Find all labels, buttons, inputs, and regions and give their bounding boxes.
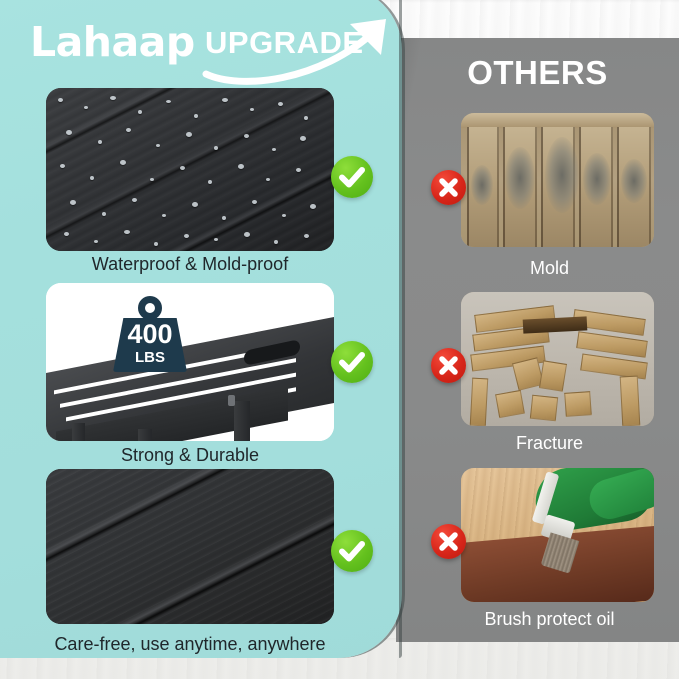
check-icon (331, 530, 373, 572)
check-icon (331, 341, 373, 383)
check-badge-durable (331, 341, 373, 383)
others-caption-mold: Mold (420, 258, 679, 279)
upgrade-image-waterproof (46, 88, 334, 251)
upgrade-caption-carefree: Care-free, use anytime, anywhere (20, 634, 360, 655)
fracture-photo (461, 292, 654, 426)
x-badge-mold (431, 170, 466, 205)
check-badge-waterproof (331, 156, 373, 198)
check-badge-carefree (331, 530, 373, 572)
brand-header: Lahaap UPGRADE (22, 16, 392, 78)
close-icon (431, 348, 466, 383)
dry-surface-photo (46, 469, 334, 624)
others-panel-title: OTHERS (396, 54, 679, 92)
upgrade-image-carefree (46, 469, 334, 624)
upgrade-caption-durable: Strong & Durable (20, 445, 360, 466)
others-caption-brush-oil: Brush protect oil (420, 609, 679, 630)
mold-top-rail (461, 113, 654, 128)
x-badge-brush-oil (431, 524, 466, 559)
weight-value: 400 (113, 321, 187, 348)
others-image-mold (461, 113, 654, 247)
upgrade-caption-waterproof: Waterproof & Mold-proof (20, 254, 360, 275)
others-image-brush-oil (461, 468, 654, 602)
check-icon (331, 156, 373, 198)
water-droplets (46, 88, 334, 251)
x-badge-fracture (431, 348, 466, 383)
brush-oil-photo (461, 468, 654, 602)
weight-icon (138, 296, 162, 320)
weight-unit: LBS (113, 350, 187, 365)
side-table-photo (46, 283, 334, 441)
upgrade-image-durable (46, 283, 334, 441)
others-image-fracture (461, 292, 654, 426)
close-icon (431, 524, 466, 559)
close-icon (431, 170, 466, 205)
weight-capacity-badge: 400 LBS (113, 296, 187, 372)
comparison-infographic: OTHERS Mold (0, 0, 679, 679)
table-screw (228, 395, 235, 406)
mold-photo (461, 113, 654, 247)
others-caption-fracture: Fracture (420, 433, 679, 454)
upward-arrow-icon (200, 16, 405, 86)
brand-logo-text: Lahaap (30, 18, 195, 66)
